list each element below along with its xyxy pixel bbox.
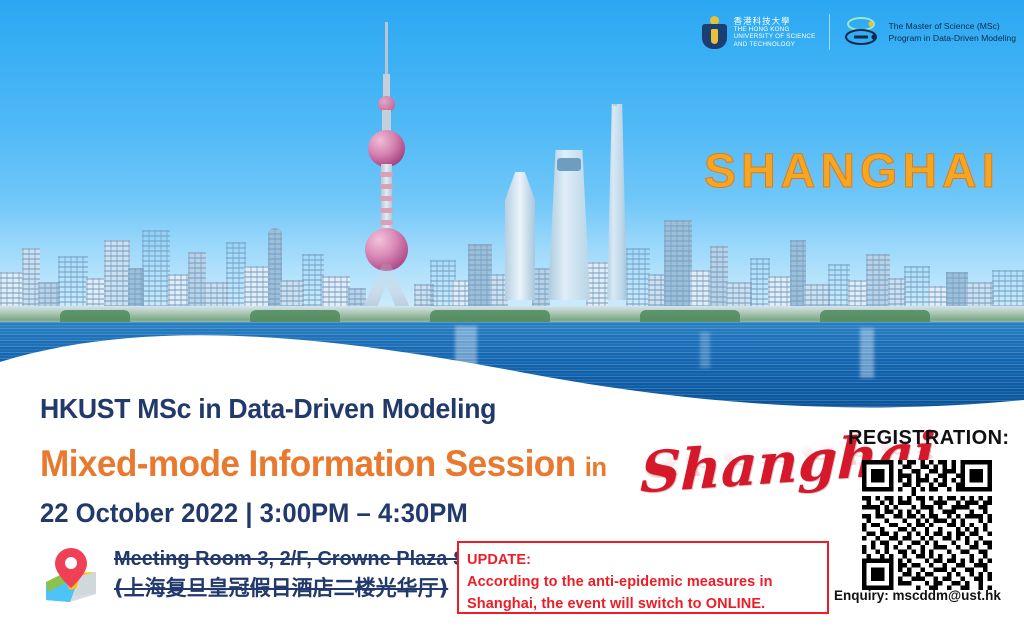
- shanghai-tower: [604, 104, 630, 300]
- hkust-english-line2: UNIVERSITY OF SCIENCE: [734, 33, 816, 40]
- hkust-english-line1: THE HONG KONG: [734, 26, 816, 33]
- header-logos: 香港科技大學 THE HONG KONG UNIVERSITY OF SCIEN…: [702, 14, 1016, 50]
- world-financial-center: [548, 150, 590, 300]
- hkust-english-line3: AND TECHNOLOGY: [734, 41, 816, 48]
- enquiry-contact: Enquiry: mscddm@ust.hk: [834, 588, 1001, 603]
- update-notice-box: UPDATE: According to the anti-epidemic m…: [457, 541, 829, 614]
- city-headline: SHANGHAI: [704, 144, 1000, 199]
- qr-code-icon[interactable]: [862, 460, 992, 590]
- event-datetime: 22 October 2022 | 3:00PM – 4:30PM: [40, 498, 468, 529]
- session-title-main: Mixed-mode Information Session: [40, 443, 576, 484]
- logo-divider: [829, 14, 830, 50]
- oriental-pearl-tower-icon: [357, 22, 417, 312]
- jin-mao-tower: [505, 172, 535, 300]
- hkust-chinese-name: 香港科技大學: [734, 16, 816, 26]
- update-body-line2: Shanghai, the event will switch to ONLIN…: [467, 593, 827, 615]
- msc-program-line1: The Master of Science (MSc): [888, 20, 1016, 32]
- msc-program-line2: Program in Data-Driven Modeling: [888, 32, 1016, 44]
- msc-program-logo: The Master of Science (MSc) Program in D…: [844, 15, 1016, 49]
- hkust-shield-icon: [702, 16, 727, 49]
- event-poster: 香港科技大學 THE HONG KONG UNIVERSITY OF SCIEN…: [0, 0, 1024, 630]
- update-body-line1: According to the anti-epidemic measures …: [467, 571, 827, 593]
- hkust-logo: 香港科技大學 THE HONG KONG UNIVERSITY OF SCIEN…: [702, 16, 816, 49]
- program-line: HKUST MSc in Data-Driven Modeling: [40, 393, 496, 425]
- map-pin-icon: [40, 546, 102, 604]
- msc-ddm-mark-icon: [844, 15, 880, 49]
- update-heading: UPDATE:: [467, 549, 827, 571]
- session-title-connector: in: [585, 452, 607, 482]
- registration-label: REGISTRATION:: [848, 427, 1010, 450]
- session-title: Mixed-mode Information Session in: [40, 443, 606, 485]
